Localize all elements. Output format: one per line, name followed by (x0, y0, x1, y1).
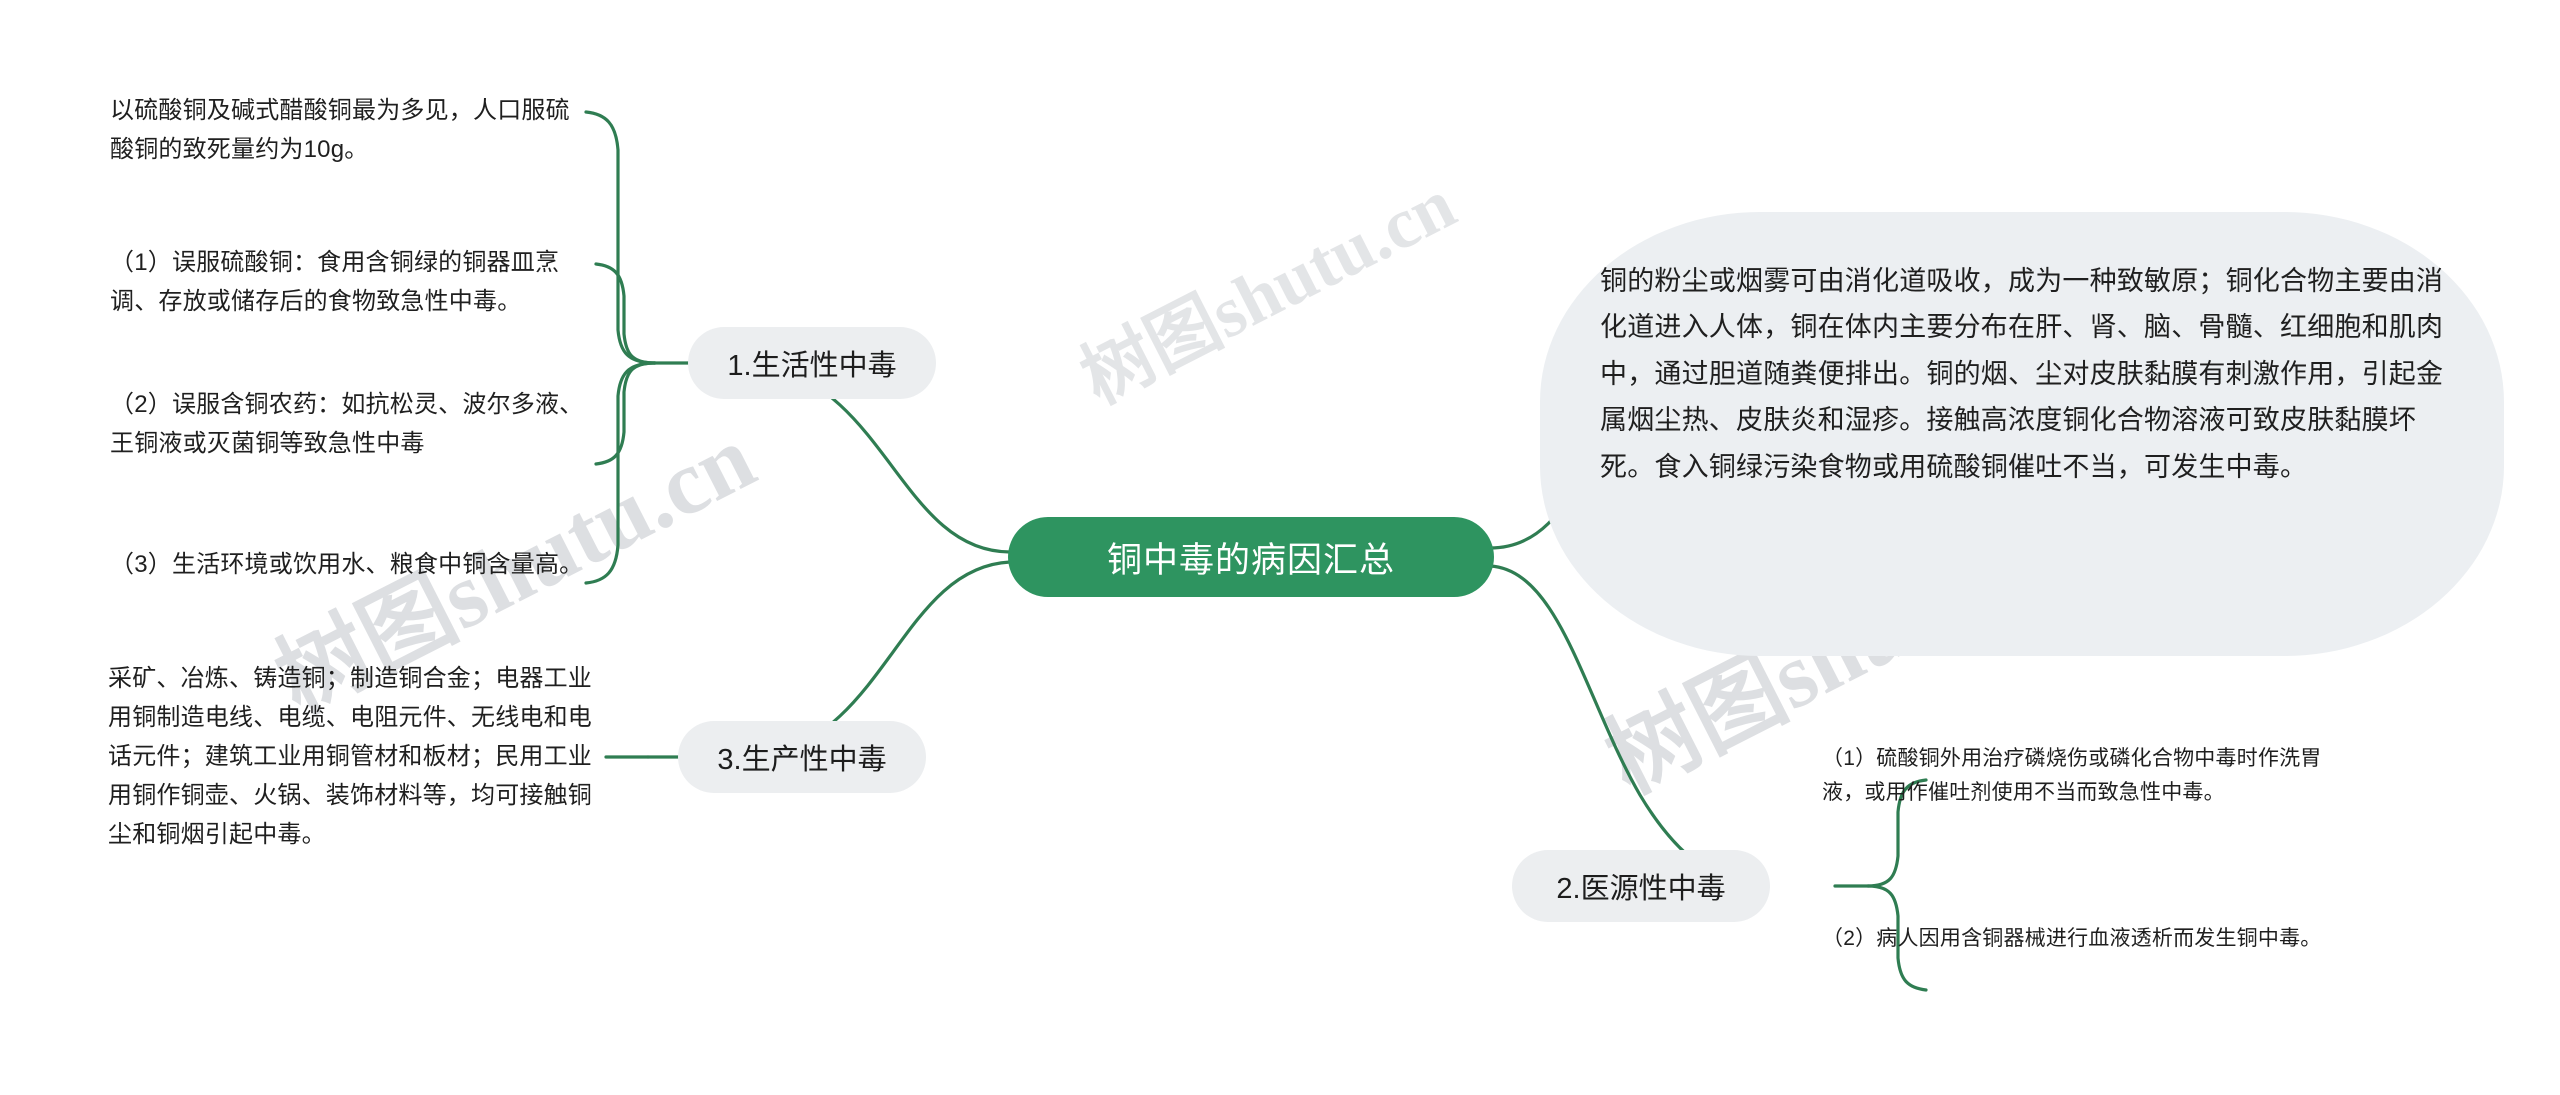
leaf-node-1-3-text: （3）生活环境或饮用水、粮食中铜含量高。 (110, 546, 610, 585)
leaf-node-1-2[interactable]: （2）误服含铜农药：如抗松灵、波尔多液、王铜液或灭菌铜等致急性中毒 (110, 386, 590, 464)
leaf-node-1-1-text: （1）误服硫酸铜：食用含铜绿的铜器皿烹调、存放或储存后的食物致急性中毒。 (110, 244, 590, 322)
leaf-node-panel[interactable]: 铜的粉尘或烟雾可由消化道吸收，成为一种致敏原；铜化合物主要由消化道进入人体，铜在… (1540, 212, 2504, 656)
branch-node-1-label: 1.生活性中毒 (727, 342, 896, 384)
leaf-node-3-0[interactable]: 采矿、冶炼、铸造铜；制造铜合金；电器工业用铜制造电线、电缆、电阻元件、无线电和电… (108, 660, 598, 854)
root-node[interactable]: 铜中毒的病因汇总 (1008, 517, 1494, 597)
leaf-node-3-0-text: 采矿、冶炼、铸造铜；制造铜合金；电器工业用铜制造电线、电缆、电阻元件、无线电和电… (108, 660, 598, 854)
leaf-node-2-0[interactable]: （1）硫酸铜外用治疗磷烧伤或磷化合物中毒时作洗胃液，或用作催吐剂使用不当而致急性… (1822, 742, 2362, 810)
root-node-label: 铜中毒的病因汇总 (1107, 532, 1395, 583)
branch-node-3-label: 3.生产性中毒 (717, 736, 886, 778)
leaf-node-2-1[interactable]: （2）病人因用含铜器械进行血液透析而发生铜中毒。 (1822, 922, 2362, 956)
branch-node-3[interactable]: 3.生产性中毒 (678, 721, 926, 793)
branch-node-1[interactable]: 1.生活性中毒 (688, 327, 936, 399)
leaf-node-2-1-text: （2）病人因用含铜器械进行血液透析而发生铜中毒。 (1822, 922, 2362, 956)
leaf-node-2-0-text: （1）硫酸铜外用治疗磷烧伤或磷化合物中毒时作洗胃液，或用作催吐剂使用不当而致急性… (1822, 742, 2362, 810)
leaf-node-1-0[interactable]: 以硫酸铜及碱式醋酸铜最为多见，人口服硫酸铜的致死量约为10g。 (110, 92, 590, 170)
leaf-node-1-2-text: （2）误服含铜农药：如抗松灵、波尔多液、王铜液或灭菌铜等致急性中毒 (110, 386, 590, 464)
branch-node-2-label: 2.医源性中毒 (1556, 865, 1725, 907)
leaf-node-1-1[interactable]: （1）误服硫酸铜：食用含铜绿的铜器皿烹调、存放或储存后的食物致急性中毒。 (110, 244, 590, 322)
leaf-node-1-0-text: 以硫酸铜及碱式醋酸铜最为多见，人口服硫酸铜的致死量约为10g。 (110, 92, 590, 170)
leaf-node-1-3[interactable]: （3）生活环境或饮用水、粮食中铜含量高。 (110, 546, 610, 585)
mindmap-canvas: 树图shutu.cn 树图shutu.cn 树图shutu.cn 铜中毒的病因汇… (0, 0, 2560, 1095)
leaf-node-panel-text: 铜的粉尘或烟雾可由消化道吸收，成为一种致敏原；铜化合物主要由消化道进入人体，铜在… (1600, 258, 2448, 490)
branch-node-2[interactable]: 2.医源性中毒 (1512, 850, 1770, 922)
watermark: 树图shutu.cn (1060, 146, 1470, 424)
